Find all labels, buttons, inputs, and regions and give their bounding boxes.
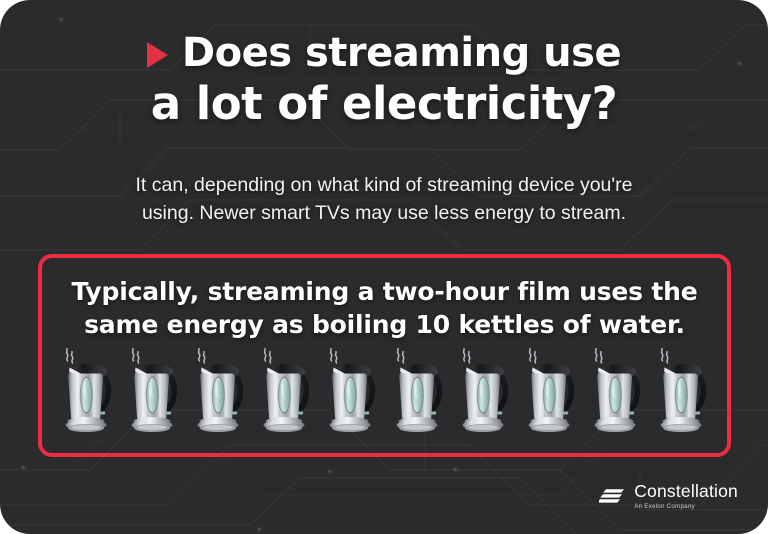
kettle-row bbox=[58, 339, 711, 437]
subtitle-line-2: using. Newer smart TVs may use less ener… bbox=[64, 200, 704, 228]
title-line-1: Does streaming use bbox=[182, 32, 621, 74]
callout-text: Typically, streaming a two-hour film use… bbox=[62, 276, 707, 341]
kettle-icon bbox=[190, 345, 248, 437]
kettle-icon bbox=[58, 345, 116, 437]
kettle-icon bbox=[322, 345, 380, 437]
infographic-card: Does streaming use a lot of electricity?… bbox=[0, 0, 768, 534]
constellation-logo: Constellation An Exelon Company bbox=[599, 483, 738, 510]
kettle-icon bbox=[256, 345, 314, 437]
callout-line-2: same energy as boiling 10 kettles of wat… bbox=[62, 309, 707, 342]
callout-line-1: Typically, streaming a two-hour film use… bbox=[62, 276, 707, 309]
kettle-icon bbox=[389, 345, 447, 437]
title-line-1-row: Does streaming use bbox=[0, 32, 768, 74]
constellation-swoosh-icon bbox=[599, 487, 625, 507]
title-line-2: a lot of electricity? bbox=[0, 80, 768, 128]
kettle-icon bbox=[587, 345, 645, 437]
kettle-icon bbox=[521, 345, 579, 437]
logo-tagline: An Exelon Company bbox=[634, 504, 738, 510]
callout-box: Typically, streaming a two-hour film use… bbox=[38, 254, 731, 457]
page-title: Does streaming use a lot of electricity? bbox=[0, 32, 768, 128]
subtitle: It can, depending on what kind of stream… bbox=[64, 172, 704, 227]
kettle-icon bbox=[124, 345, 182, 437]
kettle-icon bbox=[455, 345, 513, 437]
kettle-icon bbox=[653, 345, 711, 437]
logo-text-block: Constellation An Exelon Company bbox=[634, 483, 738, 510]
logo-name: Constellation bbox=[634, 483, 738, 501]
play-triangle-icon bbox=[147, 42, 168, 68]
subtitle-line-1: It can, depending on what kind of stream… bbox=[64, 172, 704, 200]
